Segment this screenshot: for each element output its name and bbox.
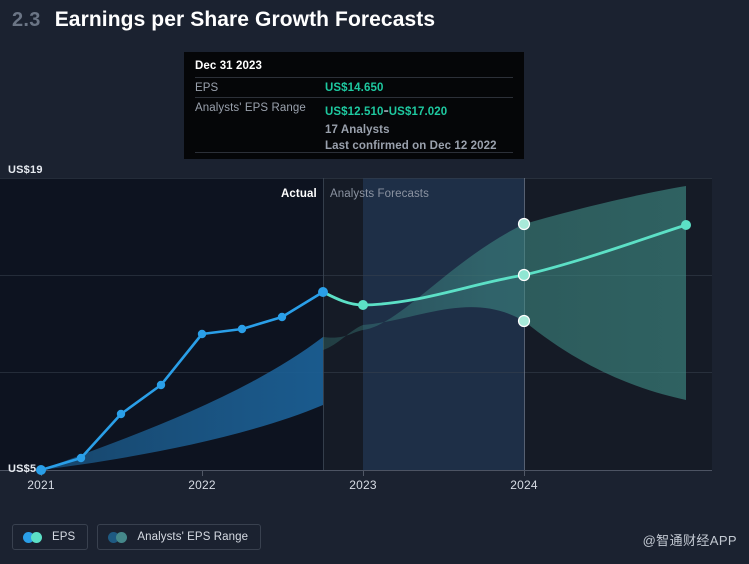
section-number: 2.3 xyxy=(12,9,41,32)
legend-swatch-eps-icon xyxy=(23,532,45,543)
tooltip-row-range: Analysts' EPS Range US$12.510-US$17.020 xyxy=(195,97,513,123)
chart-page: 2.3 Earnings per Share Growth Forecasts … xyxy=(0,0,749,564)
tooltip-last-confirmed: Last confirmed on Dec 12 2022 xyxy=(325,140,497,152)
legend-item-analysts-range[interactable]: Analysts' EPS Range xyxy=(97,524,261,550)
legend-item-eps[interactable]: EPS xyxy=(12,524,88,550)
tooltip-row-analysts: 17 Analysts xyxy=(195,123,513,139)
chart-legend: EPS Analysts' EPS Range xyxy=(12,524,261,550)
series-layer xyxy=(0,160,749,490)
chart-tooltip: Dec 31 2023 EPS US$14.650 Analysts' EPS … xyxy=(184,52,524,159)
tooltip-eps-value: US$14.650 xyxy=(325,82,383,94)
tooltip-date: Dec 31 2023 xyxy=(195,60,513,77)
tooltip-row-eps: EPS US$14.650 xyxy=(195,77,513,97)
page-title: Earnings per Share Growth Forecasts xyxy=(55,8,435,32)
tooltip-range-high: US$17.020 xyxy=(389,106,447,118)
legend-label-eps: EPS xyxy=(52,531,75,543)
chart-canvas[interactable]: US$19 US$5 Actual Analysts Forecasts 202… xyxy=(0,160,749,490)
tooltip-bottom-divider xyxy=(195,152,513,153)
watermark: @智通财经APP xyxy=(643,530,737,549)
hover-point-upper xyxy=(519,219,530,230)
tooltip-eps-label: EPS xyxy=(195,82,325,94)
tooltip-range-low: US$12.510 xyxy=(325,106,383,118)
page-header: 2.3 Earnings per Share Growth Forecasts xyxy=(0,0,749,40)
forecast-range-band xyxy=(323,186,686,400)
tooltip-range-values: US$12.510-US$17.020 xyxy=(325,102,447,120)
hover-point-eps xyxy=(519,270,530,281)
tooltip-range-label: Analysts' EPS Range xyxy=(195,102,325,114)
legend-label-analysts-range: Analysts' EPS Range xyxy=(137,531,248,543)
hover-point-lower xyxy=(519,316,530,327)
tooltip-analysts-count: 17 Analysts xyxy=(325,124,390,136)
legend-swatch-range-icon xyxy=(108,532,130,543)
